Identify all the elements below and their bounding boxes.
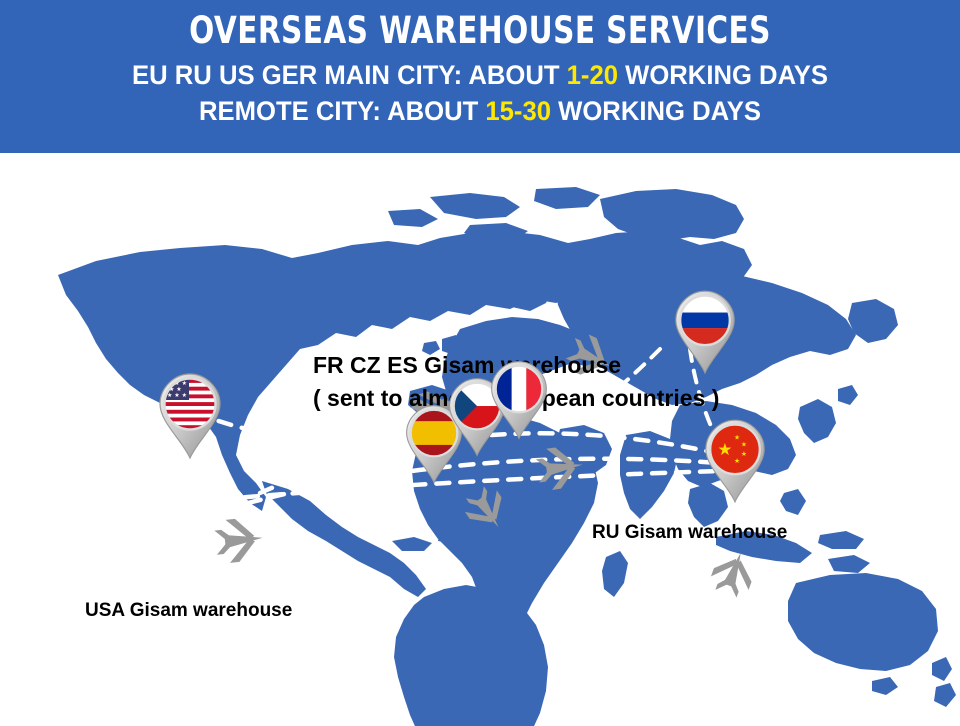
flag-pin-russia-icon[interactable] [670, 287, 740, 377]
banner-subtitle-line-1: EU RU US GER MAIN CITY: ABOUT 1-20 WORKI… [24, 49, 936, 94]
banner-line1-highlight: 1-20 [567, 60, 618, 90]
plane-china-north-icon [707, 546, 760, 601]
svg-text:★: ★ [718, 440, 733, 459]
banner-line1-text-before: EU RU US GER MAIN CITY: ABOUT [132, 60, 567, 90]
flag-pin-france-icon[interactable] [486, 358, 552, 442]
svg-text:★ ★ ★: ★ ★ ★ [167, 392, 187, 399]
page-title: OVERSEAS WAREHOUSE SERVICES [96, 0, 864, 49]
route-usa-europe [196, 413, 402, 441]
banner-line2-text-before: REMOTE CITY: ABOUT [199, 96, 485, 126]
svg-text:★: ★ [741, 440, 747, 448]
banner-subtitle-line-2: REMOTE CITY: ABOUT 15-30 WORKING DAYS [24, 94, 936, 130]
plane-indian-ocean-icon [459, 481, 514, 537]
plane-africa-route-icon [213, 516, 265, 564]
svg-text:★: ★ [741, 450, 747, 458]
flag-pin-usa-icon[interactable]: ★ ★ ★ ★ ★ ★ ★ ★ [154, 370, 226, 462]
label-ru-warehouse-text: RU Gisam warehouse [592, 522, 787, 543]
label-usa-warehouse: USA Gisam warehouse [85, 600, 292, 622]
label-ru-warehouse: RU Gisam warehouse [592, 522, 787, 544]
world-map-container: FR CZ ES Gisam warehouse ( sent to almos… [0, 153, 960, 726]
banner-line2-text-after: WORKING DAYS [551, 96, 761, 126]
svg-text:★: ★ [734, 434, 740, 442]
plane-eu-asia-mid-icon [535, 444, 586, 492]
header-banner: OVERSEAS WAREHOUSE SERVICES EU RU US GER… [0, 0, 960, 153]
svg-text:★: ★ [734, 457, 740, 465]
banner-line1-text-after: WORKING DAYS [618, 60, 828, 90]
flag-pin-china-icon[interactable]: ★ ★ ★ ★ ★ [700, 416, 770, 506]
label-usa-warehouse-text: USA Gisam warehouse [85, 600, 292, 621]
banner-line2-highlight: 15-30 [485, 96, 551, 126]
